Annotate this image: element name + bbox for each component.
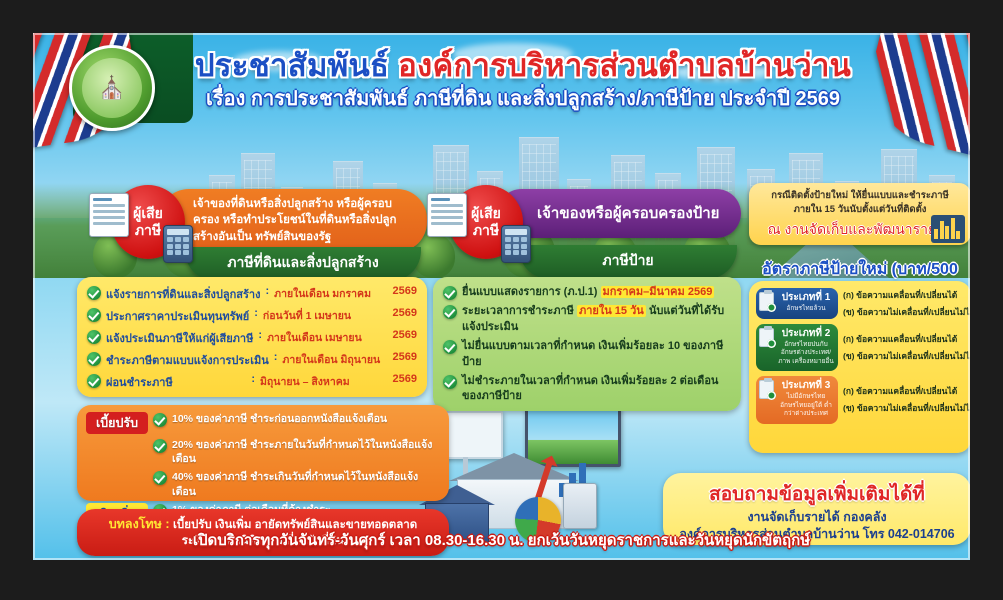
rate-condition: (ก) ข้อความแคลื่อนที่/เปลี่ยนได้ — [843, 288, 970, 302]
penalty-row: เบี้ยปรับ 10% ของค่าภาษี ชำระก่อนออกหนัง… — [86, 412, 440, 434]
schedule-year: 2569 — [383, 373, 417, 385]
check-icon — [87, 286, 101, 300]
schedule-row: ผ่อนชำระภาษี : มิถุนายน – สิงหาคม 2569 — [87, 373, 417, 391]
clipboard-check-icon — [759, 380, 774, 399]
schedule-row: แจ้งประเมินภาษีให้แก่ผู้เสียภาษี : ภายใน… — [87, 329, 417, 347]
calculator-icon — [563, 483, 597, 529]
check-icon — [87, 330, 101, 344]
check-icon — [153, 471, 167, 485]
clipboard-check-icon — [759, 328, 774, 347]
taxpayer-badge-line2: ภาษี — [473, 222, 499, 240]
schedule-year: 2569 — [385, 329, 417, 341]
check-icon — [153, 413, 167, 427]
rate-row: ประเภทที่ 2 อักษรไทยปนกับ อักษรต่างประเท… — [756, 324, 964, 371]
service-hours-text: เปิดบริการทุกวันจันทร์-วันศุกร์ เวลา 08.… — [33, 528, 970, 552]
taxpayer-badge-line1: ผู้เสีย — [471, 205, 501, 223]
rate-type-block: ประเภทที่ 3 ไม่มีอักษรไทย อักษรไทยอยู่ใต… — [756, 376, 838, 423]
signboard-text: ยื่นแบบแสดงรายการ (ภ.ป.1) มกราคม–มีนาคม … — [462, 285, 731, 300]
signboard-text: ไม่ยื่นแบบตามเวลาที่กำหนด เงินเพิ่มร้อยล… — [462, 339, 731, 370]
chart-monitor-icon — [931, 215, 965, 243]
header-title-block: ประชาสัมพันธ์ องค์การบริหารส่วนตำบลบ้านว… — [173, 49, 873, 111]
penalty-text: 10% ของค่าภาษี ชำระก่อนออกหนังสือแจ้งเตื… — [172, 412, 440, 426]
schedule-colon: : — [274, 351, 278, 363]
penalty-text: 40% ของค่าภาษี ชำระเกินวันที่กำหนดไว้ในห… — [172, 470, 440, 498]
rate-condition-list: (ก) ข้อความแคลื่อนที่/เปลี่ยนได้ (ข) ข้อ… — [843, 288, 970, 319]
rate-type-block: ประเภทที่ 2 อักษรไทยปนกับ อักษรต่างประเท… — [756, 324, 838, 371]
rate-type-desc: อักษรไทยปนกับ อักษรต่างประเทศ/ภาพ เครื่อ… — [778, 341, 834, 366]
schedule-year: 2569 — [388, 351, 417, 363]
schedule-row: ประกาศราคาประเมินทุนทรัพย์ : ก่อนวันที่ … — [87, 307, 417, 325]
rate-condition: (ข) ข้อความไม่เคลื่อนที่/เปลี่ยนไม่ได้ — [843, 305, 970, 319]
schedule-when: มิถุนายน – สิงหาคม — [260, 373, 378, 390]
check-icon — [87, 374, 101, 388]
check-icon — [443, 340, 457, 354]
signboard-row: ไม่ยื่นแบบตามเวลาที่กำหนด เงินเพิ่มร้อยล… — [443, 339, 731, 370]
organization-emblem: ⛪ — [69, 45, 155, 131]
taxpayer-badge-line2: ภาษี — [135, 222, 161, 240]
infographic-poster: ⛪ ประชาสัมพันธ์ องค์การบริหารส่วนตำบลบ้า… — [33, 33, 970, 560]
schedule-year: 2569 — [384, 307, 417, 319]
rate-row: ประเภทที่ 3 ไม่มีอักษรไทย อักษรไทยอยู่ใต… — [756, 376, 964, 423]
rate-type-desc: อักษรไทยล้วน — [778, 305, 834, 313]
signboard-text: ไม่ชำระภายในเวลาที่กำหนด เงินเพิ่มร้อยละ… — [462, 374, 731, 405]
rate-condition-list: (ก) ข้อความแคลื่อนที่/เปลี่ยนได้ (ข) ข้อ… — [843, 376, 970, 423]
schedule-when: ก่อนวันที่ 1 เมษายน — [263, 307, 379, 324]
schedule-colon: : — [265, 285, 269, 297]
schedule-label: แจ้งประเมินภาษีให้แก่ผู้เสียภาษี — [106, 329, 253, 347]
rate-type-name: ประเภทที่ 2 — [778, 328, 834, 340]
rate-condition: (ข) ข้อความไม่เคลื่อนที่/เปลี่ยนไม่ได้ — [843, 349, 970, 363]
taxpayer-banner-sign: ผู้เสีย ภาษี เจ้าของหรือผู้ครอบครองป้าย … — [449, 185, 741, 277]
page-subtitle: เรื่อง การประชาสัมพันธ์ ภาษีที่ดิน และสิ… — [173, 87, 873, 111]
rate-type-block: ประเภทที่ 1 อักษรไทยล้วน — [756, 288, 838, 319]
check-icon — [87, 308, 101, 322]
signboard-text-pre: ไม่ชำระภายในเวลาที่กำหนด เงินเพิ่มร้อยละ… — [462, 375, 718, 402]
signboard-text-pre: ยื่นแบบแสดงรายการ (ภ.ป.1) — [462, 286, 601, 298]
taxpayer-banner-land: ผู้เสีย ภาษี เจ้าของที่ดินหรือสิ่งปลูกสร… — [111, 185, 427, 277]
penalty-badge-fine: เบี้ยปรับ — [86, 412, 148, 434]
schedule-row: แจ้งรายการที่ดินและสิ่งปลูกสร้าง : ภายใน… — [87, 285, 417, 303]
schedule-label: ประกาศราคาประเมินทุนทรัพย์ — [106, 307, 249, 325]
rate-type-desc: ไม่มีอักษรไทย อักษรไทยอยู่ใต้ ต่ำกว่าต่า… — [778, 393, 834, 418]
emblem-glyph-icon: ⛪ — [82, 58, 142, 118]
new-signboard-notice: กรณีติดตั้งป้ายใหม่ ให้ยื่นแบบและชำระภาษ… — [749, 183, 970, 245]
signboard-text-highlight: มกราคม–มีนาคม 2569 — [601, 286, 715, 298]
check-icon — [153, 439, 167, 453]
rate-condition: (ก) ข้อความแคลื่อนที่/เปลี่ยนได้ — [843, 332, 970, 346]
tax-type-label-sign: ภาษีป้าย — [519, 245, 737, 279]
schedule-label: ผ่อนชำระภาษี — [106, 373, 246, 391]
schedule-label: แจ้งรายการที่ดินและสิ่งปลูกสร้าง — [106, 285, 260, 303]
calculator-icon — [163, 225, 193, 263]
signboard-row: ไม่ชำระภายในเวลาที่กำหนด เงินเพิ่มร้อยละ… — [443, 374, 731, 405]
taxpayer-description-sign: เจ้าของหรือผู้ครอบครองป้าย — [497, 189, 741, 238]
schedule-year: 2569 — [386, 285, 417, 297]
signboard-text: ระยะเวลาการชำระภาษี ภายใน 15 วัน นับแต่ว… — [462, 304, 731, 335]
rate-condition: (ข) ข้อความไม่เคลื่อนที่/เปลี่ยนไม่ได้ — [843, 401, 970, 415]
check-icon — [443, 375, 457, 389]
contact-heading: สอบถามข้อมูลเพิ่มเติมได้ที่ — [673, 479, 961, 509]
digital-billboard-icon — [525, 407, 621, 467]
rate-row: ประเภทที่ 1 อักษรไทยล้วน (ก) ข้อความแคลื… — [756, 288, 964, 319]
schedule-when: ภายในเดือน เมษายน — [267, 329, 380, 346]
signboard-row: ระยะเวลาการชำระภาษี ภายใน 15 วัน นับแต่ว… — [443, 304, 731, 335]
taxpayer-badge-line1: ผู้เสีย — [133, 205, 163, 223]
page-title-part1: ประชาสัมพันธ์ — [195, 48, 398, 83]
signboard-tax-panel: ยื่นแบบแสดงรายการ (ภ.ป.1) มกราคม–มีนาคม … — [433, 277, 741, 411]
page-title-part2: องค์การบริหารส่วนตำบลบ้านว่าน — [398, 48, 851, 83]
schedule-row: ชำระภาษีตามแบบแจ้งการประเมิน : ภายในเดือ… — [87, 351, 417, 369]
document-icon — [89, 193, 129, 237]
signboard-text-pre: ไม่ยื่นแบบตามเวลาที่กำหนด เงินเพิ่มร้อยล… — [462, 340, 723, 367]
schedule-colon: : — [251, 373, 255, 385]
schedule-when: ภายในเดือน มกราคม — [274, 285, 381, 302]
schedule-label: ชำระภาษีตามแบบแจ้งการประเมิน — [106, 351, 269, 369]
land-tax-schedule-panel: แจ้งรายการที่ดินและสิ่งปลูกสร้าง : ภายใน… — [77, 277, 427, 397]
penalty-row: 20% ของค่าภาษี ชำระภายในวันที่กำหนดไว้ใน… — [86, 438, 440, 466]
rate-condition: (ก) ข้อความแคลื่อนที่/เปลี่ยนได้ — [843, 384, 970, 398]
schedule-colon: : — [258, 329, 262, 341]
rate-type-name: ประเภทที่ 3 — [778, 380, 834, 392]
penalty-surcharge-panel: เบี้ยปรับ 10% ของค่าภาษี ชำระก่อนออกหนัง… — [77, 405, 449, 501]
signboard-text-pre: ระยะเวลาการชำระภาษี — [462, 305, 577, 317]
tax-type-label-land: ภาษีที่ดินและสิ่งปลูกสร้าง — [185, 247, 421, 281]
check-icon — [443, 305, 457, 319]
schedule-when: ภายในเดือน มิถุนายน — [282, 351, 383, 368]
signboard-text-highlight: ภายใน 15 วัน — [577, 305, 646, 317]
clipboard-check-icon — [759, 292, 774, 311]
page-title: ประชาสัมพันธ์ องค์การบริหารส่วนตำบลบ้านว… — [173, 49, 873, 84]
check-icon — [443, 286, 457, 300]
document-icon — [427, 193, 467, 237]
penalty-row: 40% ของค่าภาษี ชำระเกินวันที่กำหนดไว้ในห… — [86, 470, 440, 498]
rate-condition-list: (ก) ข้อความแคลื่อนที่/เปลี่ยนได้ (ข) ข้อ… — [843, 324, 970, 371]
penalty-text: 20% ของค่าภาษี ชำระภายในวันที่กำหนดไว้ใน… — [172, 438, 440, 466]
calculator-icon — [501, 225, 531, 263]
taxpayer-description-land: เจ้าของที่ดินหรือสิ่งปลูกสร้าง หรือผู้คร… — [159, 189, 427, 252]
contact-department: งานจัดเก็บรายได้ กองคลัง — [673, 509, 961, 526]
signboard-row: ยื่นแบบแสดงรายการ (ภ.ป.1) มกราคม–มีนาคม … — [443, 285, 731, 300]
check-icon — [87, 352, 101, 366]
schedule-colon: : — [254, 307, 258, 319]
notice-line-1: กรณีติดตั้งป้ายใหม่ ให้ยื่นแบบและชำระภาษ… — [757, 189, 963, 203]
signboard-rate-table: ประเภทที่ 1 อักษรไทยล้วน (ก) ข้อความแคลื… — [749, 281, 970, 453]
rate-type-name: ประเภทที่ 1 — [778, 292, 834, 304]
